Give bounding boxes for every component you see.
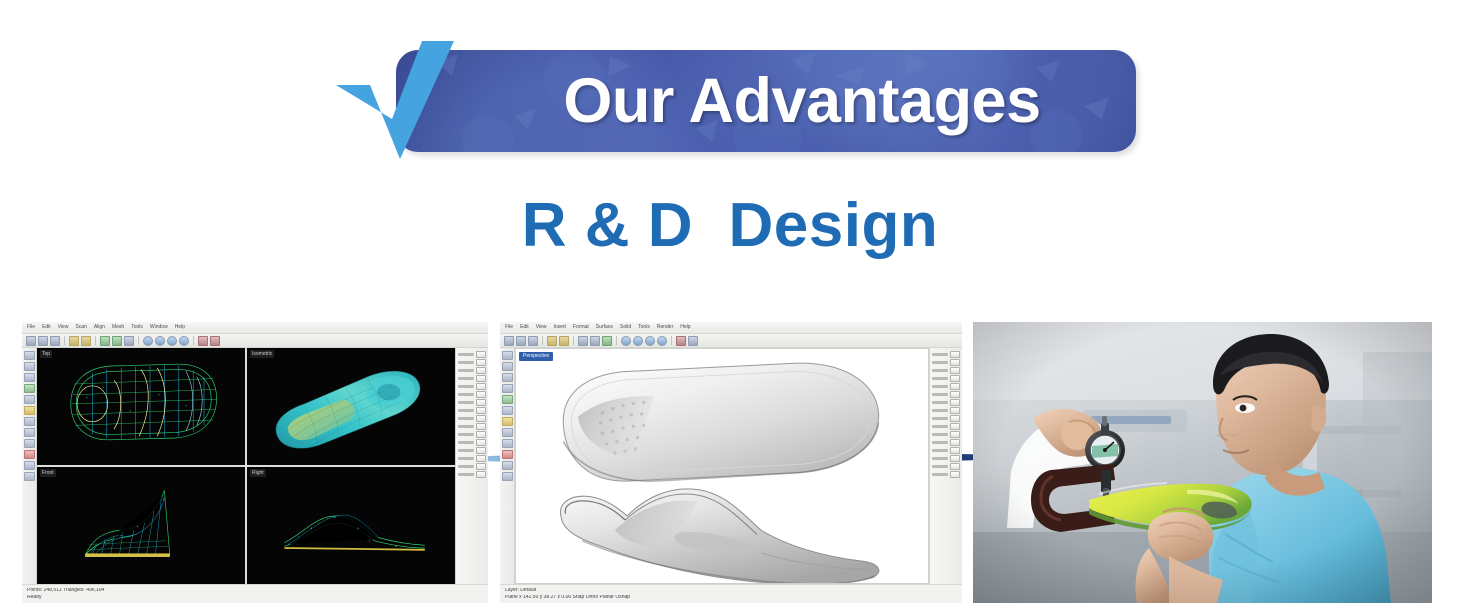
trim-tool-icon[interactable] [502, 428, 513, 437]
insole-wireframe-side [37, 467, 245, 584]
property-value[interactable] [476, 463, 486, 470]
property-value[interactable] [476, 359, 486, 366]
property-row[interactable] [458, 415, 486, 421]
property-label [932, 361, 948, 364]
viewport-top[interactable]: Top [37, 348, 245, 465]
status-line: Points: 248,512 Triangles: 496,104 [27, 588, 483, 593]
property-value[interactable] [476, 407, 486, 414]
property-value[interactable] [476, 391, 486, 398]
property-label [932, 441, 948, 444]
insole-render-scene [516, 349, 928, 584]
property-row[interactable] [458, 375, 486, 381]
property-label [458, 449, 474, 452]
property-label [932, 417, 948, 420]
property-row[interactable] [932, 399, 960, 405]
menu-item[interactable]: Surface [596, 325, 613, 330]
menu-item[interactable]: Render [657, 325, 673, 330]
surface-tool-icon[interactable] [24, 384, 35, 393]
property-row[interactable] [932, 383, 960, 389]
menu-item[interactable]: File [505, 325, 513, 330]
insole-shaded-3d [247, 348, 455, 465]
property-value[interactable] [950, 447, 960, 454]
cad-render-app: File Edit View Insert Format Surface Sol… [500, 322, 962, 603]
property-row[interactable] [458, 423, 486, 429]
property-value[interactable] [950, 383, 960, 390]
menu-item[interactable]: Edit [42, 325, 51, 330]
sweep-icon[interactable] [602, 336, 612, 346]
decimate-tool-icon[interactable] [24, 428, 35, 437]
property-row[interactable] [458, 399, 486, 405]
property-row[interactable] [932, 375, 960, 381]
property-row[interactable] [932, 439, 960, 445]
new-file-icon[interactable] [26, 336, 36, 346]
menu-item[interactable]: Edit [520, 325, 529, 330]
property-value[interactable] [950, 351, 960, 358]
zoom-view-icon[interactable] [167, 336, 177, 346]
menu-item[interactable]: View [536, 325, 547, 330]
fillet-tool-icon[interactable] [502, 417, 513, 426]
insole-top-view-render [563, 363, 878, 481]
menu-item[interactable]: Tools [638, 325, 650, 330]
technician-measuring-insole-scene [973, 322, 1432, 603]
redo-icon[interactable] [81, 336, 91, 346]
menu-item[interactable]: Mesh [112, 325, 124, 330]
cad-scan-left-toolbar[interactable] [22, 348, 37, 584]
viewport-front[interactable]: Front [37, 467, 245, 584]
smooth-tool-icon[interactable] [24, 417, 35, 426]
delete-tool-icon[interactable] [502, 450, 513, 459]
property-label [932, 465, 948, 468]
curve-icon[interactable] [578, 336, 588, 346]
property-label [458, 425, 474, 428]
property-row[interactable] [458, 359, 486, 365]
property-label [458, 433, 474, 436]
property-label [932, 457, 948, 460]
pan-view-icon[interactable] [633, 336, 643, 346]
panel-row: File Edit View Scan Align Mesh Tools Win… [0, 322, 1460, 603]
scan-icon[interactable] [100, 336, 110, 346]
property-value[interactable] [950, 439, 960, 446]
property-label [932, 433, 948, 436]
property-value[interactable] [476, 399, 486, 406]
property-label [458, 473, 474, 476]
polyline-tool-icon[interactable] [502, 373, 513, 382]
render-icon[interactable] [676, 336, 686, 346]
menu-item[interactable]: Scan [75, 325, 86, 330]
property-value[interactable] [476, 431, 486, 438]
cad-render-statusbar: Layer: Default Plane x 142.50 y 38.27 z … [500, 584, 962, 603]
property-row[interactable] [458, 447, 486, 453]
toolbar-separator [616, 336, 617, 345]
fit-view-icon[interactable] [179, 336, 189, 346]
property-label [458, 409, 474, 412]
cad-scan-menubar[interactable]: File Edit View Scan Align Mesh Tools Win… [22, 322, 488, 334]
property-value[interactable] [950, 455, 960, 462]
cad-render-toolbar[interactable] [500, 334, 962, 348]
menu-item[interactable]: Align [94, 325, 105, 330]
property-row[interactable] [932, 415, 960, 421]
property-value[interactable] [476, 383, 486, 390]
property-label [932, 353, 948, 356]
qc-photo [973, 322, 1432, 603]
property-label [458, 417, 474, 420]
cad-render-body: Perspective [500, 348, 962, 584]
curve-tool-icon[interactable] [24, 373, 35, 382]
section-icon[interactable] [210, 336, 220, 346]
menu-item[interactable]: Insert [553, 325, 566, 330]
property-row[interactable] [458, 471, 486, 477]
cad-render-properties-panel[interactable] [929, 348, 962, 584]
property-label [932, 409, 948, 412]
cad-render-left-toolbar[interactable] [500, 348, 515, 584]
undo-icon[interactable] [547, 336, 557, 346]
property-label [932, 385, 948, 388]
cad-scan-body: Top [22, 348, 488, 584]
property-value[interactable] [950, 407, 960, 414]
scale-tool-icon[interactable] [24, 472, 35, 481]
property-label [458, 401, 474, 404]
menu-item[interactable]: Help [175, 325, 185, 330]
property-row[interactable] [932, 463, 960, 469]
menu-item[interactable]: View [58, 325, 69, 330]
property-row[interactable] [458, 351, 486, 357]
loft-icon[interactable] [590, 336, 600, 346]
surface-tool-icon[interactable] [502, 395, 513, 404]
toolbar-separator [193, 336, 194, 345]
banner-title: Our Advantages [396, 50, 1136, 152]
menu-item[interactable]: Solid [620, 325, 631, 330]
trim-tool-icon[interactable] [24, 395, 35, 404]
circle-tool-icon[interactable] [502, 384, 513, 393]
status-line: Layer: Default [505, 588, 957, 593]
property-label [932, 473, 948, 476]
property-row[interactable] [932, 471, 960, 477]
mirror-tool-icon[interactable] [24, 461, 35, 470]
panel-qc-measurement-photo[interactable] [973, 322, 1432, 603]
property-label [932, 449, 948, 452]
viewport-grid: Top [37, 348, 455, 584]
delete-tool-icon[interactable] [24, 450, 35, 459]
section-subtitle: R & D Design [0, 186, 1460, 296]
cad-render-viewport[interactable]: Perspective [515, 348, 929, 584]
open-file-icon[interactable] [516, 336, 526, 346]
property-label [458, 377, 474, 380]
align-icon[interactable] [112, 336, 122, 346]
property-value[interactable] [950, 463, 960, 470]
cad-scan-statusbar: Points: 248,512 Triangles: 496,104 Ready [22, 584, 488, 603]
property-value[interactable] [950, 367, 960, 374]
fill-hole-tool-icon[interactable] [24, 406, 35, 415]
property-value[interactable] [476, 375, 486, 382]
measure-icon[interactable] [198, 336, 208, 346]
subtitle-text: R & D Design [0, 186, 1460, 266]
property-value[interactable] [476, 367, 486, 374]
property-row[interactable] [458, 391, 486, 397]
redo-icon[interactable] [559, 336, 569, 346]
offset-tool-icon[interactable] [24, 439, 35, 448]
cad-scan-properties-panel[interactable] [455, 348, 488, 584]
toolbar-separator [542, 336, 543, 345]
insole-side-view-render [561, 489, 879, 584]
menu-item[interactable]: Tools [131, 325, 143, 330]
status-line: Ready [27, 595, 483, 600]
viewport-tab[interactable]: Perspective [519, 352, 553, 361]
property-row[interactable] [932, 447, 960, 453]
property-value[interactable] [950, 399, 960, 406]
cad-scan-app: File Edit View Scan Align Mesh Tools Win… [22, 322, 488, 603]
viewport-right[interactable]: Right [247, 467, 455, 584]
property-row[interactable] [932, 359, 960, 365]
property-label [458, 457, 474, 460]
property-value[interactable] [950, 471, 960, 478]
toolbar-separator [64, 336, 65, 345]
advantages-page: Our Advantages R & D Design [0, 0, 1460, 603]
property-value[interactable] [476, 423, 486, 430]
property-value[interactable] [476, 447, 486, 454]
menu-item[interactable]: Window [150, 325, 168, 330]
property-row[interactable] [458, 463, 486, 469]
header-banner: Our Advantages [0, 0, 1460, 180]
property-value[interactable] [950, 431, 960, 438]
property-row[interactable] [932, 455, 960, 461]
property-value[interactable] [476, 455, 486, 462]
menu-item[interactable]: File [27, 325, 35, 330]
cad-render-menubar[interactable]: File Edit View Insert Format Surface Sol… [500, 322, 962, 334]
property-label [458, 393, 474, 396]
property-value[interactable] [950, 391, 960, 398]
property-value[interactable] [950, 375, 960, 382]
insole-wireframe-profile [247, 467, 455, 584]
property-row[interactable] [458, 383, 486, 389]
save-icon[interactable] [50, 336, 60, 346]
layers-icon[interactable] [688, 336, 698, 346]
property-value[interactable] [476, 415, 486, 422]
property-value[interactable] [476, 471, 486, 478]
property-row[interactable] [458, 431, 486, 437]
property-row[interactable] [932, 407, 960, 413]
property-value[interactable] [950, 359, 960, 366]
shaded-view-icon[interactable] [657, 336, 667, 346]
property-label [932, 369, 948, 372]
transform-tool-icon[interactable] [502, 461, 513, 470]
line-tool-icon[interactable] [502, 362, 513, 371]
property-row[interactable] [932, 391, 960, 397]
property-label [458, 465, 474, 468]
property-label [932, 401, 948, 404]
insole-wireframe-top [37, 348, 245, 465]
undo-icon[interactable] [69, 336, 79, 346]
new-file-icon[interactable] [504, 336, 514, 346]
pan-view-icon[interactable] [155, 336, 165, 346]
property-row[interactable] [932, 431, 960, 437]
property-row[interactable] [458, 455, 486, 461]
toolbar-separator [671, 336, 672, 345]
menu-item[interactable]: Format [573, 325, 589, 330]
point-tool-icon[interactable] [24, 362, 35, 371]
select-tool-icon[interactable] [502, 351, 513, 360]
property-label [932, 377, 948, 380]
property-label [458, 353, 474, 356]
property-row[interactable] [932, 351, 960, 357]
select-tool-icon[interactable] [24, 351, 35, 360]
property-value[interactable] [950, 415, 960, 422]
property-row[interactable] [458, 439, 486, 445]
property-label [458, 441, 474, 444]
cad-scan-viewport-area[interactable]: Top [37, 348, 455, 584]
dimension-tool-icon[interactable] [502, 472, 513, 481]
property-row[interactable] [458, 367, 486, 373]
rotate-view-icon[interactable] [621, 336, 631, 346]
panel-cad-scan-window[interactable]: File Edit View Scan Align Mesh Tools Win… [22, 322, 488, 603]
property-label [458, 385, 474, 388]
rotate-view-icon[interactable] [143, 336, 153, 346]
property-value[interactable] [950, 423, 960, 430]
offset-tool-icon[interactable] [502, 439, 513, 448]
property-row[interactable] [932, 367, 960, 373]
toolbar-separator [138, 336, 139, 345]
property-label [458, 361, 474, 364]
property-value[interactable] [476, 351, 486, 358]
property-row[interactable] [458, 407, 486, 413]
solid-tool-icon[interactable] [502, 406, 513, 415]
property-row[interactable] [932, 423, 960, 429]
menu-item[interactable]: Help [680, 325, 690, 330]
property-value[interactable] [476, 439, 486, 446]
open-file-icon[interactable] [38, 336, 48, 346]
panel-cad-render-window[interactable]: File Edit View Insert Format Surface Sol… [500, 322, 962, 603]
toolbar-separator [573, 336, 574, 345]
zoom-view-icon[interactable] [645, 336, 655, 346]
save-icon[interactable] [528, 336, 538, 346]
property-label [932, 425, 948, 428]
status-line: Plane x 142.50 y 38.27 z 0.00 Snap Ortho… [505, 595, 957, 600]
property-label [932, 393, 948, 396]
viewport-isometric[interactable]: Isometric [247, 348, 455, 465]
cad-scan-toolbar[interactable] [22, 334, 488, 348]
toolbar-separator [95, 336, 96, 345]
mesh-icon[interactable] [124, 336, 134, 346]
property-label [458, 369, 474, 372]
